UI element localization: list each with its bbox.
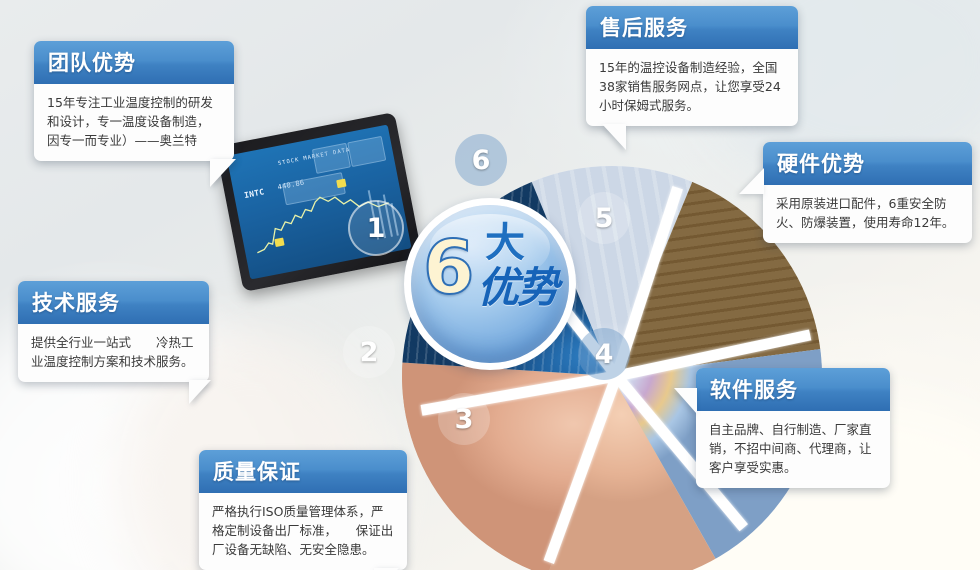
tablet-panel	[348, 136, 387, 167]
tablet-ticker-symbol: INTC	[243, 187, 265, 200]
segment-number-1[interactable]: 1	[348, 200, 404, 256]
tablet-marker	[274, 237, 284, 247]
callout-tail	[189, 380, 211, 404]
callout-body: 提供全行业一站式 冷热工业温度控制方案和技术服务。	[18, 324, 209, 382]
callout-after-sales-service[interactable]: 售后服务 15年的温控设备制造经验，全国38家销售服务网点，让您享受24小时保姆…	[586, 6, 798, 126]
center-subtitle: 优势	[477, 267, 557, 309]
center-badge: 6 大 优势	[404, 198, 576, 370]
callout-body: 采用原装进口配件，6重安全防火、防爆装置，使用寿命12年。	[763, 185, 972, 243]
tablet-panel	[312, 143, 351, 174]
segment-number-5[interactable]: 5	[578, 192, 630, 244]
callout-technical-service[interactable]: 技术服务 提供全行业一站式 冷热工业温度控制方案和技术服务。	[18, 281, 209, 382]
callout-title: 硬件优势	[763, 142, 972, 185]
segment-number-3[interactable]: 3	[438, 393, 490, 445]
callout-title: 质量保证	[199, 450, 407, 493]
callout-title: 技术服务	[18, 281, 209, 324]
segment-number-4[interactable]: 4	[578, 328, 630, 380]
callout-hardware-advantage[interactable]: 硬件优势 采用原装进口配件，6重安全防火、防爆装置，使用寿命12年。	[763, 142, 972, 243]
callout-tail	[739, 168, 764, 194]
callout-body: 自主品牌、自行制造、厂家直销，不招中间商、代理商，让客户享受实惠。	[696, 411, 890, 488]
callout-title: 售后服务	[586, 6, 798, 49]
callout-tail	[674, 388, 697, 414]
callout-body: 15年的温控设备制造经验，全国38家销售服务网点，让您享受24小时保姆式服务。	[586, 49, 798, 126]
callout-quality-assurance[interactable]: 质量保证 严格执行ISO质量管理体系，严格定制设备出厂标准， 保证出厂设备无缺陷…	[199, 450, 407, 570]
center-big-char: 大	[485, 223, 525, 263]
segment-number-6[interactable]: 6	[455, 134, 507, 186]
callout-tail	[602, 124, 626, 150]
center-badge-inner: 6 大 优势	[411, 205, 569, 363]
callout-body: 15年专注工业温度控制的研发和设计，专一温度设备制造，因专一而专业）——奥兰特	[34, 84, 234, 161]
segment-number-2[interactable]: 2	[343, 326, 395, 378]
callout-body: 严格执行ISO质量管理体系，严格定制设备出厂标准， 保证出厂设备无缺陷、无安全隐…	[199, 493, 407, 570]
callout-team-advantage[interactable]: 团队优势 15年专注工业温度控制的研发和设计，专一温度设备制造，因专一而专业）—…	[34, 41, 234, 161]
callout-software-service[interactable]: 软件服务 自主品牌、自行制造、厂家直销，不招中间商、代理商，让客户享受实惠。	[696, 368, 890, 488]
infographic-canvas: STOCK MARKET DATA INTC 440.86 6 大 优势	[0, 0, 980, 570]
callout-title: 团队优势	[34, 41, 234, 84]
callout-tail	[210, 159, 236, 187]
center-number: 6	[423, 231, 475, 305]
callout-title: 软件服务	[696, 368, 890, 411]
